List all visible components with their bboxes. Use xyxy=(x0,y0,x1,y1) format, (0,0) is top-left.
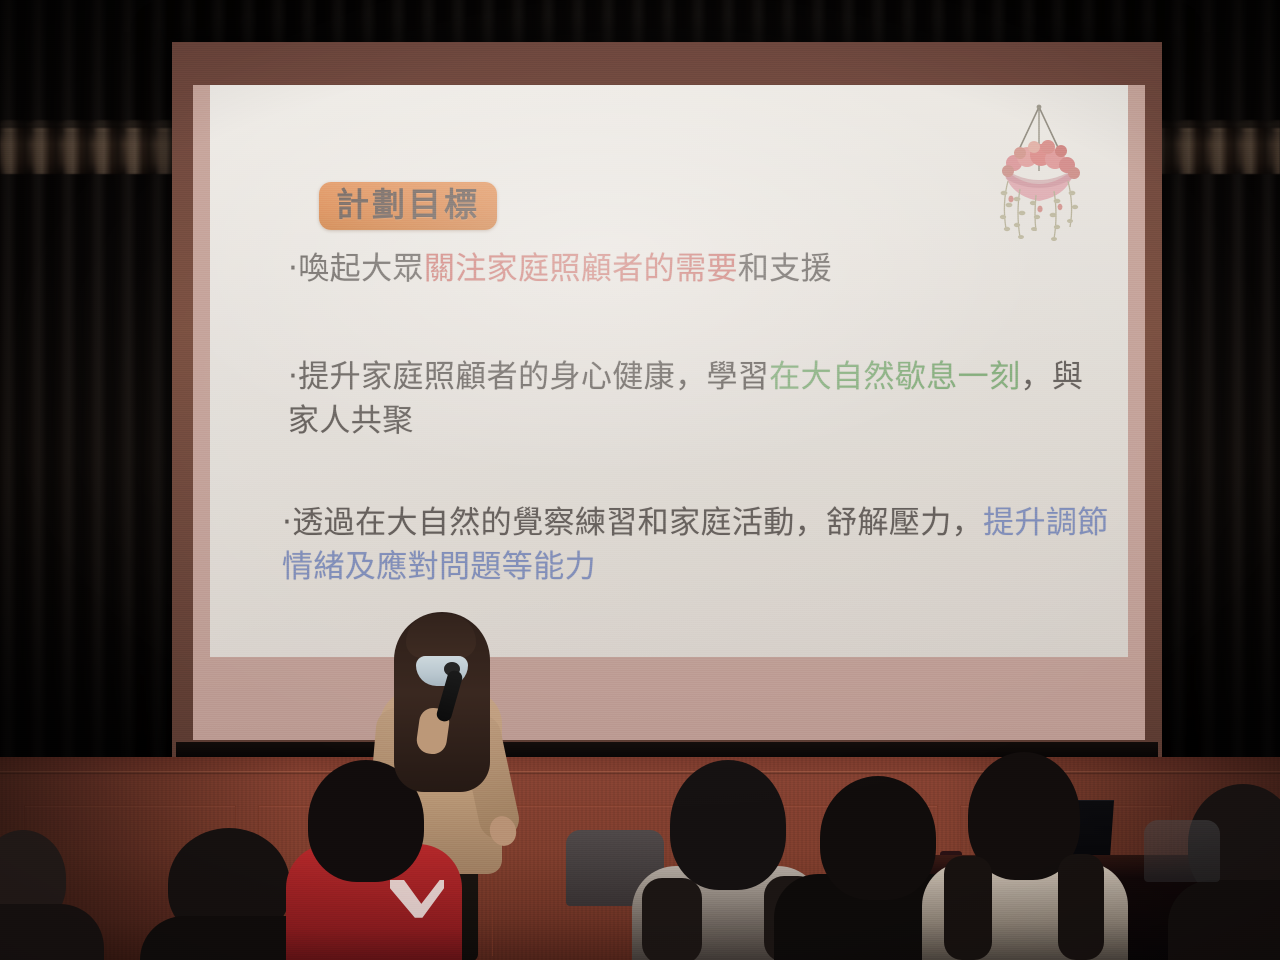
hanging-plant-basket-icon xyxy=(974,103,1104,253)
slide-title-text: 計劃目標 xyxy=(336,188,480,221)
slide-bullet-2: ‧提升家庭照顧者的身心健康，學習在大自然歇息一刻，與家人共聚 xyxy=(288,355,1112,443)
bullet-1-segment-2-highlight: 關注家庭照顧者的需要 xyxy=(424,251,738,287)
slide-bullet-3: ‧透過在大自然的覺察練習和家庭活動，舒解壓力，提升調節情緒及應對問題等能力 xyxy=(282,501,1110,589)
bullet-marker-3: ‧ xyxy=(282,505,292,541)
slide-title-badge: 計劃目標 xyxy=(319,182,497,230)
projection-screen-surface: 計劃目標 xyxy=(193,85,1145,740)
bullet-3-segment-1: 透過在大自然的覺察練習和家庭活動，舒解壓力， xyxy=(292,505,983,541)
slide-bullet-1: ‧喚起大眾關注家庭照顧者的需要和支援 xyxy=(288,247,1088,291)
audience-member xyxy=(0,830,90,960)
bullet-1-segment-3: 和支援 xyxy=(738,251,832,287)
presentation-photo-scene: 計劃目標 xyxy=(0,0,1280,960)
bullet-2-segment-2-highlight: 在大自然歇息一刻 xyxy=(769,359,1020,395)
audience-member xyxy=(926,752,1122,960)
presenter-hair-top xyxy=(406,614,476,658)
presentation-slide: 計劃目標 xyxy=(210,85,1128,657)
bullet-marker-1: ‧ xyxy=(288,251,298,287)
bullet-marker-2: ‧ xyxy=(288,359,298,395)
bullet-1-segment-1: 喚起大眾 xyxy=(298,251,424,287)
projection-screen-frame: 計劃目標 xyxy=(172,42,1162,760)
auditorium-seat xyxy=(1144,820,1220,882)
bullet-2-segment-1: 提升家庭照顧者的身心健康，學習 xyxy=(298,359,769,395)
